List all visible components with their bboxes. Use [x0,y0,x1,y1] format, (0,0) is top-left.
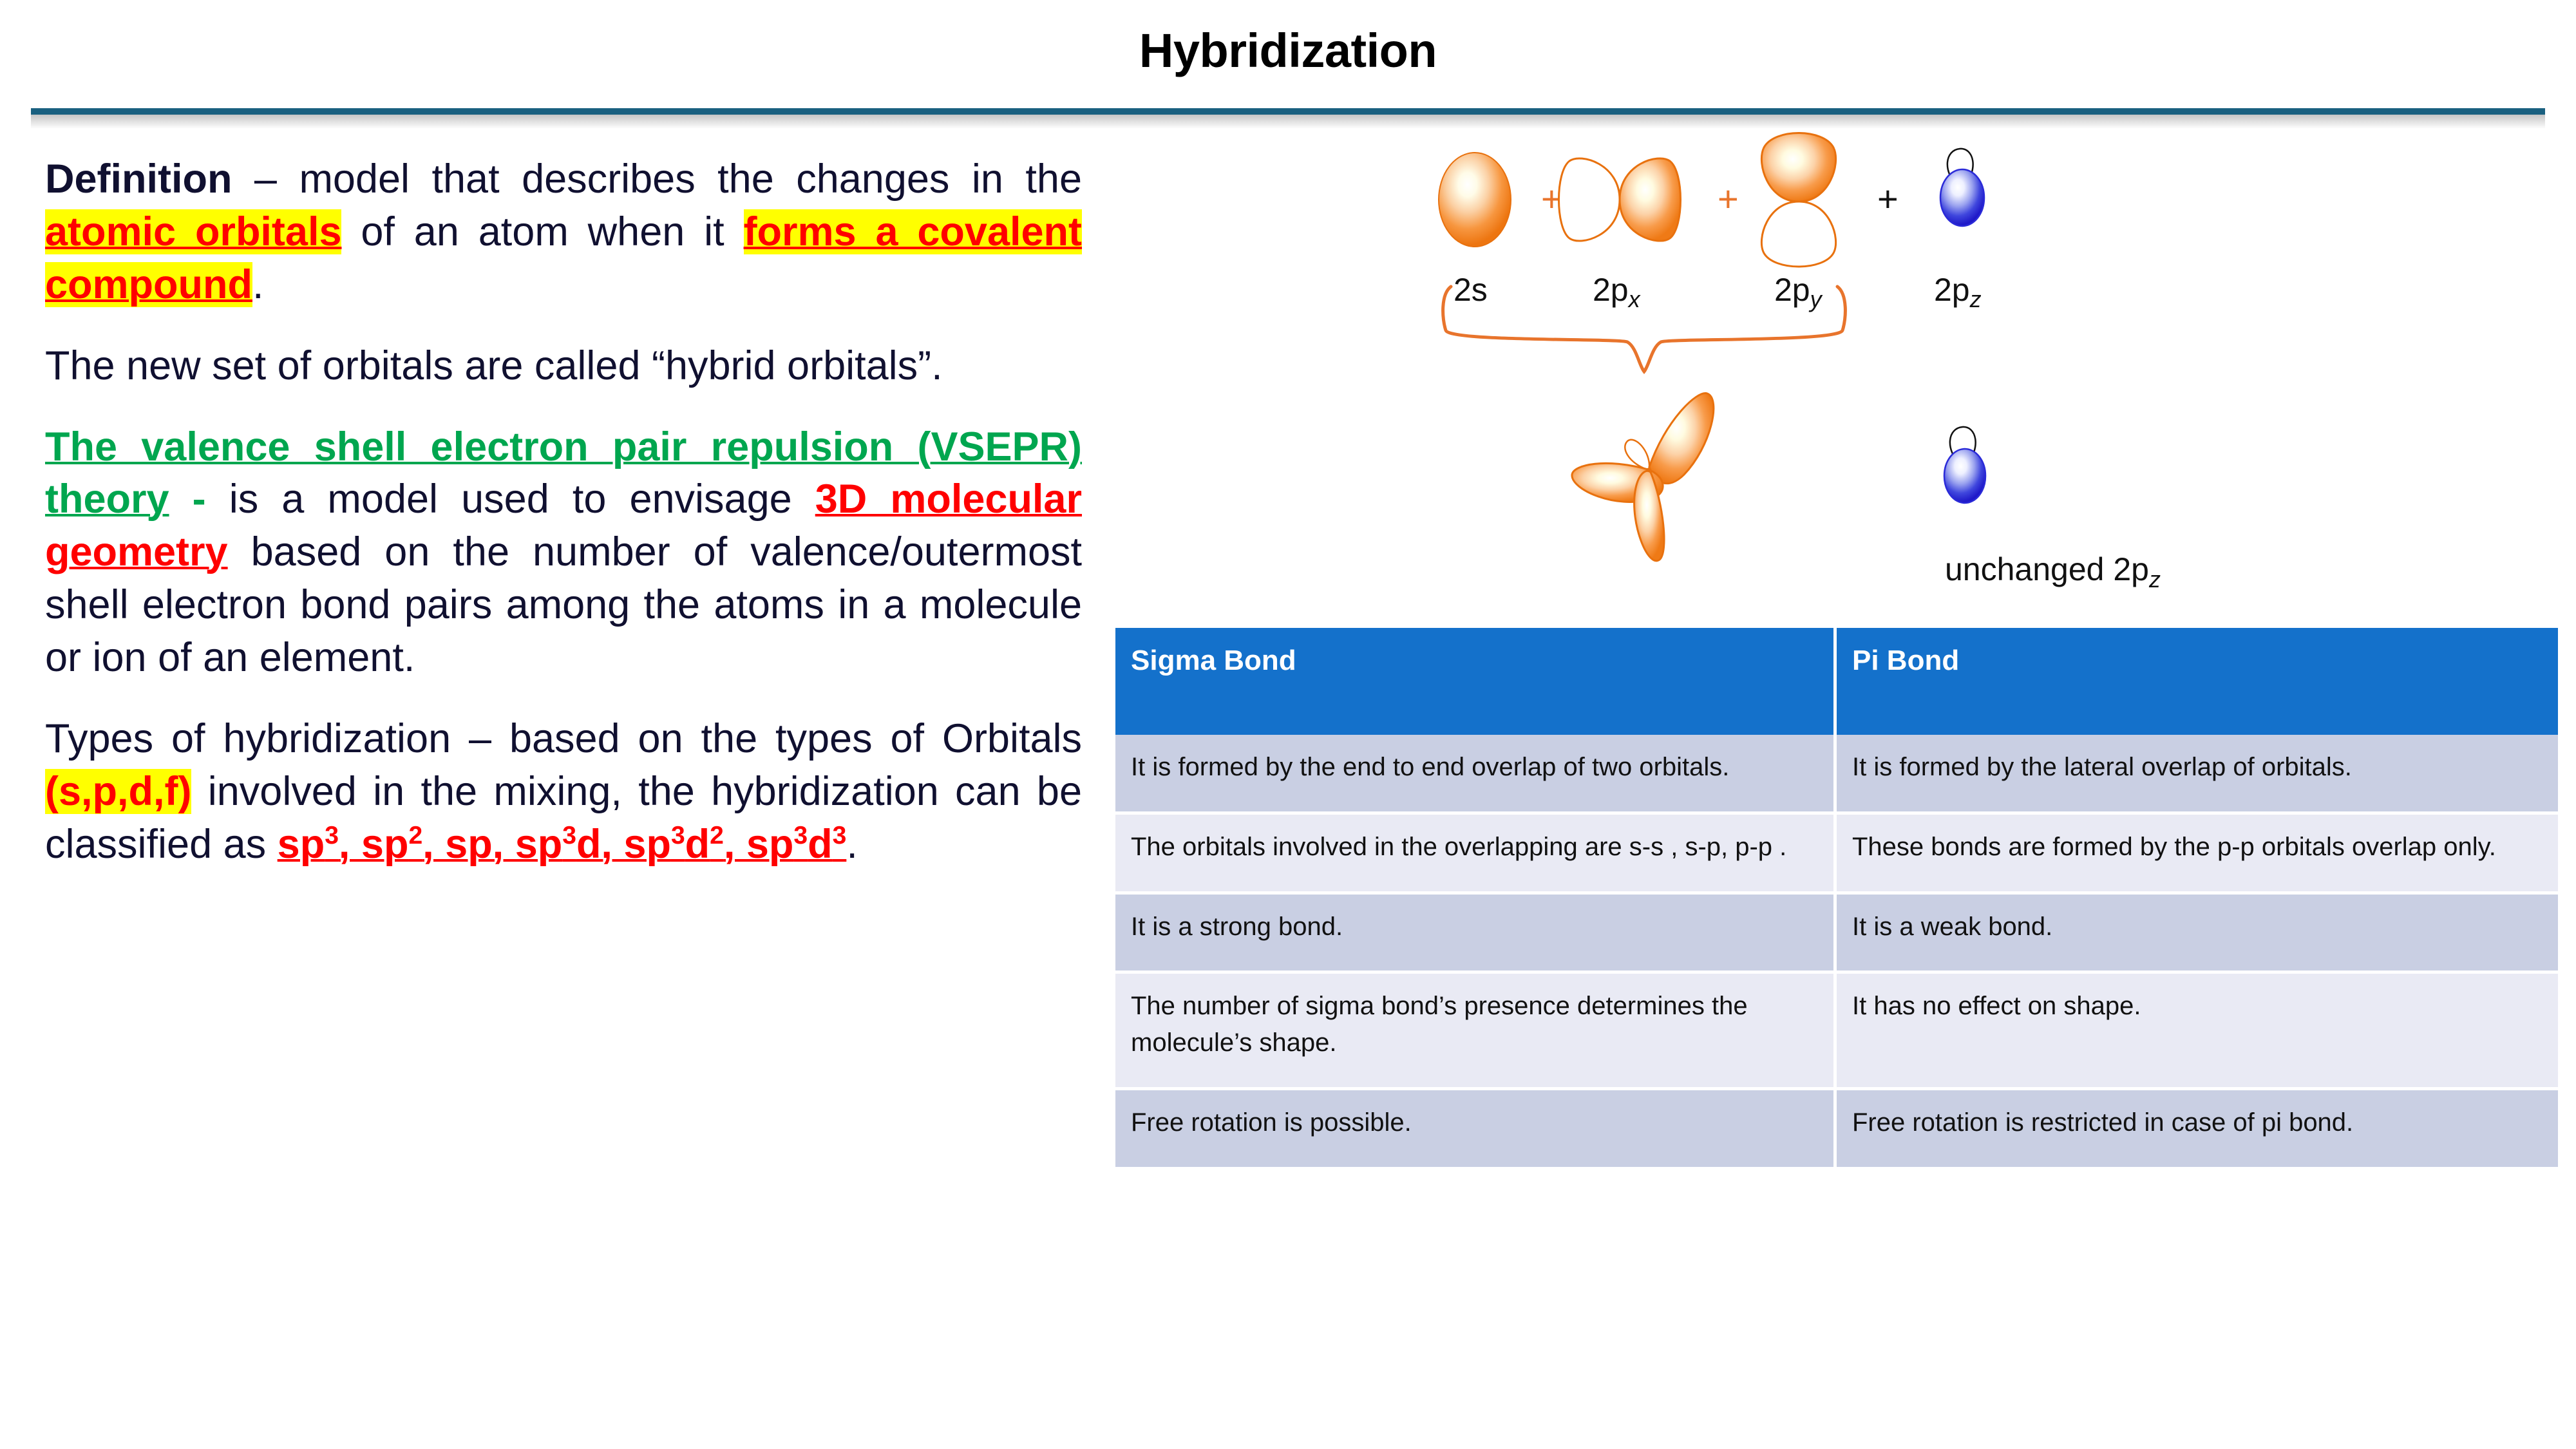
table-row: Free rotation is possible. Free rotation… [1115,1090,2558,1170]
paragraph-types-of-hybridization: Types of hybridization – based on the ty… [45,713,1082,871]
sp3d-exponent: 3 [562,822,576,849]
table-row: It is a strong bond. It is a weak bond. [1115,895,2558,974]
cell-sigma-1: It is formed by the end to end overlap o… [1115,735,1837,815]
vsepr-text-1: is a model used to envisage [229,477,815,522]
sp2-base: , sp [339,822,409,867]
sigma-pi-comparison-table: Sigma Bond Pi Bond It is formed by the e… [1115,628,2558,1170]
sp-and-sp3d-base: , sp, sp [422,822,562,867]
cell-sigma-3: It is a strong bond. [1115,895,1837,974]
plus-sign-2: + [1718,178,1739,219]
unchanged-2pz-orbital-icon [1944,427,1985,503]
highlight-hybridization-types: sp3, sp2, sp, sp3d, sp3d2, sp3d3 [278,822,847,867]
title-divider-rule [31,108,2545,115]
sp3d3-exponent-p: 3 [793,822,808,849]
unchanged-text: unchanged 2p [1945,551,2149,587]
column-header-sigma-bond: Sigma Bond [1115,628,1837,735]
orbital-diagram-svg: + + + 2s 2px 2py 2pz [1426,126,2199,602]
cell-pi-1: It is formed by the lateral overlap of o… [1837,735,2558,815]
sp3d2-base: d, sp [576,822,671,867]
orbital-2pz-icon [1940,149,1984,226]
body-text-column: Definition – model that describes the ch… [45,153,1082,871]
page-title: Hybridization [0,23,2576,78]
orbital-hybridization-diagram: + + + 2s 2px 2py 2pz [1426,126,2199,602]
definition-text-1: – model that describes the changes in th… [232,156,1082,202]
sp3d2-exponent-d: 2 [710,822,724,849]
cell-sigma-5: Free rotation is possible. [1115,1090,1837,1170]
definition-lead-label: Definition [45,156,232,202]
unchanged-subscript: z [2149,566,2161,592]
orbital-2py-icon [1761,133,1835,267]
highlight-spdf: (s,p,d,f) [45,769,191,814]
cell-pi-2: These bonds are formed by the p-p orbita… [1837,815,2558,895]
definition-text-3: . [252,262,264,307]
sp3d2-exponent-p: 3 [671,822,685,849]
orbital-2px-icon [1559,158,1681,241]
sp3d3-base: , sp [724,822,794,867]
label-unchanged-2pz: unchanged 2pz [1945,551,2331,593]
types-text-1: Types of hybridization – based on the ty… [45,716,1082,761]
definition-text-2: of an atom when it [341,209,743,254]
sp3d3-d: d [808,822,832,867]
cell-pi-3: It is a weak bond. [1837,895,2558,974]
paragraph-definition: Definition – model that describes the ch… [45,153,1082,312]
sp3d3-exponent-d: 3 [833,822,847,849]
column-header-pi-bond: Pi Bond [1837,628,2558,735]
label-2s: 2s [1454,272,1488,308]
paragraph-vsepr: The valence shell electron pair repulsio… [45,421,1082,685]
sp2-exponent: 2 [408,822,422,849]
sp3-base: sp [278,822,325,867]
table-row: It is formed by the end to end overlap o… [1115,735,2558,815]
sp3-exponent: 3 [325,822,339,849]
label-2py: 2py [1774,272,1823,312]
hybrid-sp2-orbitals-icon [1572,393,1714,561]
types-text-3: . [846,822,858,867]
label-2pz: 2pz [1934,272,1982,312]
cell-sigma-2: The orbitals involved in the overlapping… [1115,815,1837,895]
table-row: The orbitals involved in the overlapping… [1115,815,2558,895]
cell-pi-5: Free rotation is restricted in case of p… [1837,1090,2558,1170]
cell-pi-4: It has no effect on shape. [1837,974,2558,1090]
highlight-atomic-orbitals: atomic orbitals [45,209,341,254]
sp3d2-d: d [685,822,710,867]
vsepr-dash: - [169,477,229,522]
cell-sigma-4: The number of sigma bond’s presence dete… [1115,974,1837,1090]
table-row: The number of sigma bond’s presence dete… [1115,974,2558,1090]
label-2px: 2px [1593,272,1642,312]
table-header-row: Sigma Bond Pi Bond [1115,628,2558,735]
plus-sign-3: + [1877,178,1899,219]
orbital-2s-icon [1439,153,1511,247]
paragraph-hybrid-orbitals: The new set of orbitals are called “hybr… [45,340,1082,393]
